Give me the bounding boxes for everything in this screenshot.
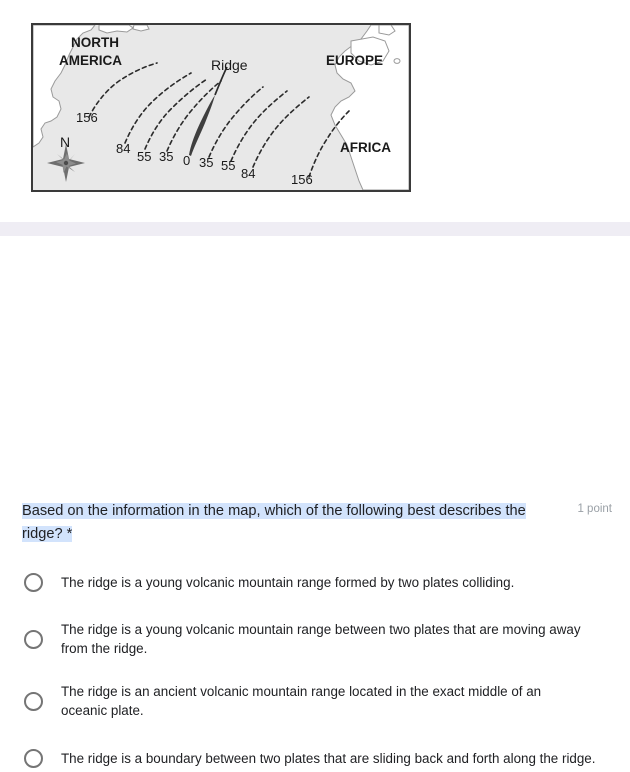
- radio-button-2[interactable]: [24, 630, 43, 649]
- image-card: NORTH AMERICA EUROPE AFRICA Ridge N 156 …: [0, 0, 630, 222]
- label-europe: EUROPE: [326, 53, 383, 68]
- age-label-156-west: 156: [76, 110, 98, 125]
- question-title-block: Based on the information in the map, whi…: [22, 500, 570, 546]
- label-compass-north: N: [60, 134, 70, 150]
- question-card: Based on the information in the map, whi…: [0, 236, 630, 548]
- label-north-america-line2: AMERICA: [59, 53, 122, 68]
- radio-button-4[interactable]: [24, 749, 43, 768]
- label-africa: AFRICA: [340, 140, 391, 155]
- radio-button-3[interactable]: [24, 692, 43, 711]
- card-separator: [0, 222, 630, 236]
- options-list: The ridge is a young volcanic mountain r…: [24, 568, 608, 772]
- question-title: Based on the information in the map, whi…: [22, 503, 526, 542]
- age-label-84-west: 84: [116, 141, 130, 156]
- age-label-55-west: 55: [137, 149, 151, 164]
- option-label-3: The ridge is an ancient volcanic mountai…: [61, 682, 589, 720]
- age-label-0: 0: [183, 153, 190, 168]
- radio-button-1[interactable]: [24, 573, 43, 592]
- label-north-america-line1: NORTH: [71, 35, 119, 50]
- age-label-84-east: 84: [241, 166, 255, 181]
- option-label-1: The ridge is a young volcanic mountain r…: [61, 573, 514, 592]
- option-row-3[interactable]: The ridge is an ancient volcanic mountai…: [24, 682, 608, 720]
- page-background-below-card: [0, 548, 630, 560]
- question-row: Based on the information in the map, whi…: [22, 500, 612, 546]
- age-label-35-west: 35: [159, 149, 173, 164]
- option-label-4: The ridge is a boundary between two plat…: [61, 749, 595, 768]
- option-row-2[interactable]: The ridge is a young volcanic mountain r…: [24, 620, 608, 658]
- age-label-35-east: 35: [199, 155, 213, 170]
- label-ridge: Ridge: [211, 57, 248, 73]
- option-row-1[interactable]: The ridge is a young volcanic mountain r…: [24, 568, 608, 596]
- option-label-2: The ridge is a young volcanic mountain r…: [61, 620, 589, 658]
- map-figure: NORTH AMERICA EUROPE AFRICA Ridge N 156 …: [31, 23, 411, 192]
- map-svg: NORTH AMERICA EUROPE AFRICA Ridge N 156 …: [33, 25, 409, 190]
- age-label-156-east: 156: [291, 172, 313, 187]
- small-island: [133, 25, 149, 31]
- question-points: 1 point: [577, 503, 612, 515]
- balearic-island: [394, 59, 400, 64]
- option-row-4[interactable]: The ridge is a boundary between two plat…: [24, 744, 608, 772]
- age-label-55-east: 55: [221, 158, 235, 173]
